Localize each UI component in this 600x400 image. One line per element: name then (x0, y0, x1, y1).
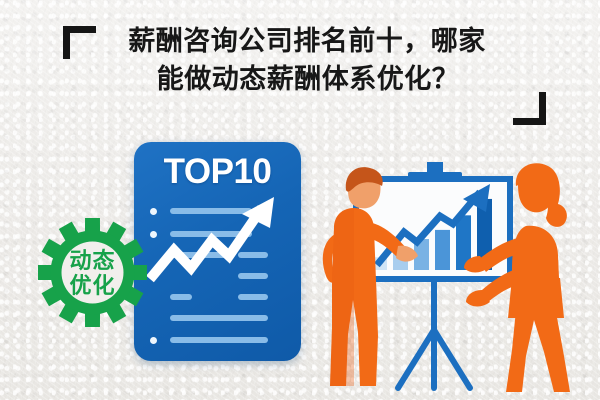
poster-canvas: 薪酬咨询公司排名前十，哪家 能做动态薪酬体系优化？ TOP10 (0, 0, 600, 400)
bracket-top-left-icon (63, 26, 96, 59)
presentation-scene (320, 160, 590, 395)
easel-tripod-stand (398, 278, 470, 388)
gear-icon (36, 216, 149, 329)
dynamic-optimization-gear: 动态 优化 (36, 216, 149, 329)
headline-line-2: 能做动态薪酬体系优化？ (0, 60, 600, 98)
bar (435, 230, 450, 270)
growth-arrow-icon (134, 142, 301, 361)
top10-document-card: TOP10 (134, 142, 301, 361)
bracket-bottom-right-icon (513, 92, 546, 125)
